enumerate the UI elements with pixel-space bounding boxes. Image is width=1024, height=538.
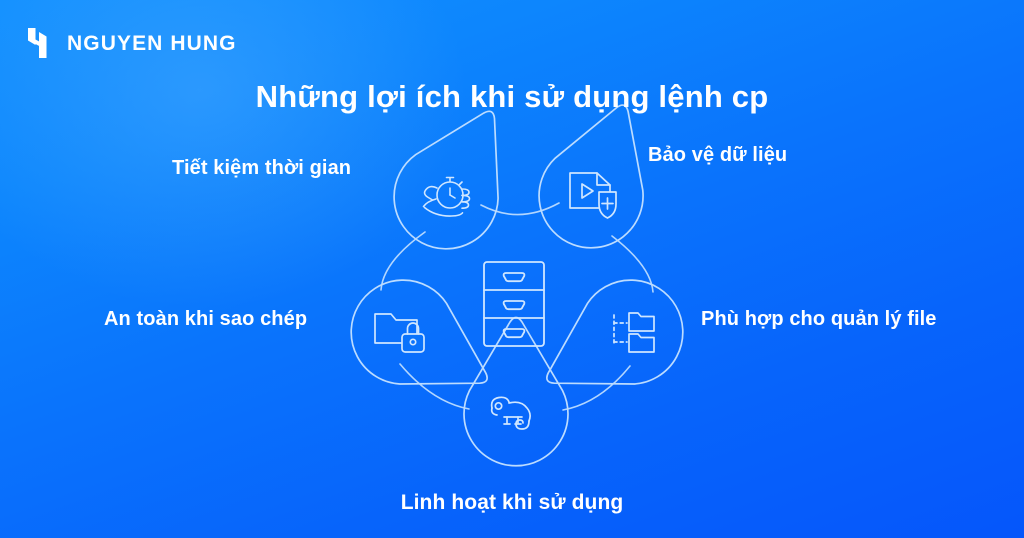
pin-outline <box>521 261 701 425</box>
benefit-label-an-toan-khi-sao-chep: An toàn khi sao chép <box>104 308 307 331</box>
folder-lock-icon <box>375 314 424 352</box>
pin-outline <box>464 318 568 466</box>
infographic-canvas: NGUYEN HUNG Những lợi ích khi sử dụng lệ… <box>0 0 1024 538</box>
chameleon-icon <box>492 397 530 429</box>
benefit-label-bao-ve-du-lieu: Bảo vệ dữ liệu <box>648 144 787 167</box>
benefit-label-linh-hoat-khi-su-dung: Linh hoạt khi sử dụng <box>0 491 1024 515</box>
node-linh-hoat-khi-su-dung[interactable] <box>464 318 568 466</box>
brand-logo[interactable]: NGUYEN HUNG <box>26 26 237 60</box>
page-title: Những lợi ích khi sử dụng lệnh cp <box>0 79 1024 115</box>
document-shield-plus-icon <box>570 173 616 218</box>
connector-ring <box>381 203 653 410</box>
benefit-label-phu-hop-cho-quan-ly-file: Phù hợp cho quản lý file <box>701 308 937 331</box>
hand-holding-stopwatch-icon <box>424 178 470 217</box>
node-phu-hop-cho-quan-ly-file[interactable] <box>521 261 701 425</box>
folder-tree-icon <box>614 313 654 352</box>
node-an-toan-khi-sao-chep[interactable] <box>332 261 512 425</box>
filing-cabinet-icon <box>484 262 544 346</box>
benefit-label-tiet-kiem-thoi-gian: Tiết kiệm thời gian <box>172 157 351 180</box>
nh-monogram-icon <box>26 26 56 60</box>
brand-name: NGUYEN HUNG <box>67 33 237 54</box>
